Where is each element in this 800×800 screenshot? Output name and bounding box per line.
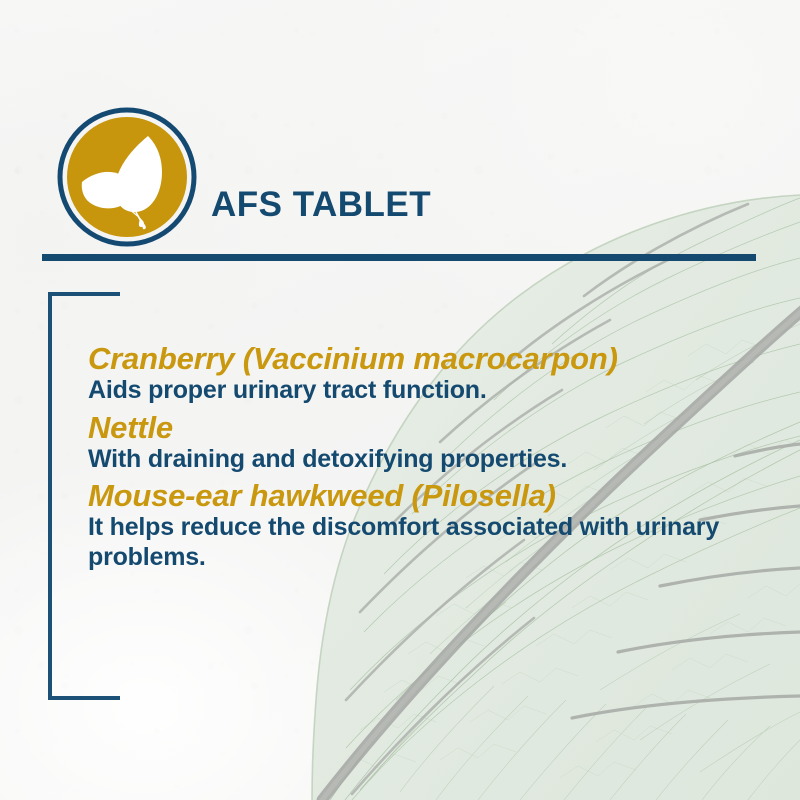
ingredient-description: Aids proper urinary tract function.: [88, 376, 748, 406]
list-item: Mouse-ear hawkweed (Pilosella) It helps …: [88, 479, 748, 572]
ingredient-name: Cranberry (Vaccinium macrocarpon): [88, 342, 748, 376]
header-divider: [42, 254, 756, 261]
list-item: Nettle With draining and detoxifying pro…: [88, 411, 748, 475]
list-item: Cranberry (Vaccinium macrocarpon) Aids p…: [88, 342, 748, 406]
page-title: AFS TABLET: [211, 185, 431, 225]
ingredient-list: Cranberry (Vaccinium macrocarpon) Aids p…: [88, 342, 748, 577]
ingredient-name: Mouse-ear hawkweed (Pilosella): [88, 479, 748, 513]
product-info-card: AFS TABLET Cranberry (Vaccinium macrocar…: [0, 0, 800, 800]
brand-logo: [56, 106, 198, 248]
ingredient-description: With draining and detoxifying properties…: [88, 445, 748, 475]
ingredient-name: Nettle: [88, 411, 748, 445]
ingredient-description: It helps reduce the discomfort associate…: [88, 513, 748, 572]
